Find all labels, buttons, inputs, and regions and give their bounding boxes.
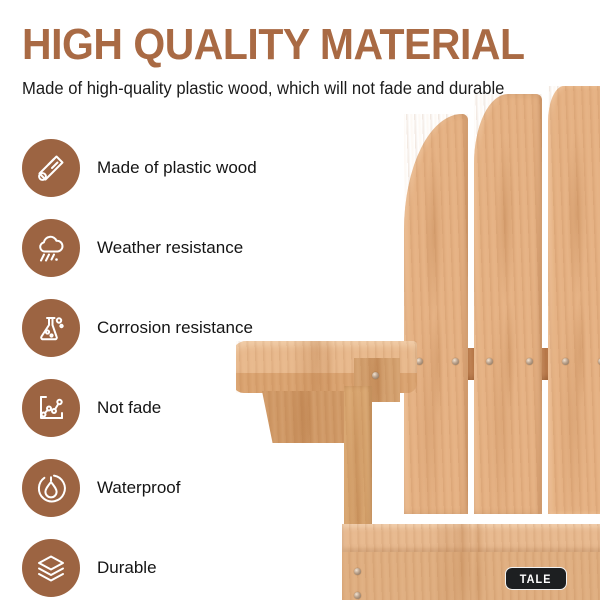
brand-badge-label: TALE [520,572,552,586]
slat-screw [562,358,569,365]
feature-row-corrosion-resistance: Corrosion resistance [22,288,292,368]
chair-back-slat-1 [404,114,468,514]
feature-label: Durable [97,558,157,578]
wood-grain-texture [342,524,600,552]
page-subtitle: Made of high-quality plastic wood, which… [22,78,504,99]
flask-icon [22,299,80,357]
rain-cloud-icon [22,219,80,277]
feature-row-not-fade: Not fade [22,368,292,448]
slat-screw [526,358,533,365]
chair-back-slat-3 [548,86,600,514]
feature-label: Not fade [97,398,161,418]
feature-label: Made of plastic wood [97,158,257,178]
feature-row-made-of-plastic-wood: Made of plastic wood [22,128,292,208]
wood-grain-texture [404,114,468,514]
chair-seat-board [342,524,600,552]
wood-grain-texture [474,94,542,514]
armrest-screw [372,372,379,379]
brand-badge: TALE [505,567,567,590]
feature-row-waterproof: Waterproof [22,448,292,528]
slat-screw [416,358,423,365]
chair-back-slat-2 [474,94,542,514]
water-drop-icon [22,459,80,517]
feature-label: Corrosion resistance [97,318,253,338]
slat-screw [452,358,459,365]
feature-label: Waterproof [97,478,180,498]
seat-screw [354,592,361,599]
feature-list: Made of plastic wood Weather resistance [22,128,292,608]
slat-screw [486,358,493,365]
feature-label: Weather resistance [97,238,243,258]
feature-row-durable: Durable [22,528,292,608]
wood-log-icon [22,139,80,197]
feature-row-weather-resistance: Weather resistance [22,208,292,288]
seat-screw [354,568,361,575]
stacked-layers-icon [22,539,80,597]
wood-grain-texture [548,86,600,514]
line-chart-icon [22,379,80,437]
page-title: HIGH QUALITY MATERIAL [22,20,524,70]
